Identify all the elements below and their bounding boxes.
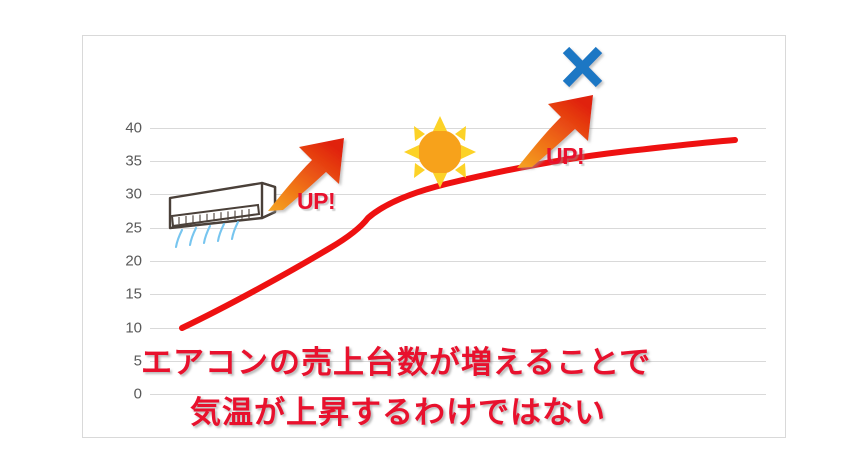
up-label-2: UP!: [546, 143, 584, 170]
ytick-30: 30: [102, 187, 142, 202]
gridline-15: [150, 294, 766, 295]
caption-line-2: 気温が上昇するわけではない: [190, 387, 606, 432]
gridline-20: [150, 261, 766, 262]
y-axis: 40 35 30 25 20 15 10 5 0: [100, 128, 142, 394]
gridline-10: [150, 328, 766, 329]
ytick-10: 10: [102, 321, 142, 336]
gridline-25: [150, 228, 766, 229]
ytick-40: 40: [102, 121, 142, 136]
caption-line-1: エアコンの売上台数が増えることで: [141, 337, 651, 382]
screenshot-canvas: 40 35 30 25 20 15 10 5 0: [0, 0, 867, 461]
ytick-35: 35: [102, 154, 142, 169]
gridline-30: [150, 194, 766, 195]
gridline-40: [150, 128, 766, 129]
up-label-1: UP!: [297, 188, 335, 215]
gridline-35: [150, 161, 766, 162]
ytick-25: 25: [102, 221, 142, 236]
ytick-5: 5: [102, 354, 142, 369]
ytick-0: 0: [102, 387, 142, 402]
ytick-20: 20: [102, 254, 142, 269]
ytick-15: 15: [102, 287, 142, 302]
